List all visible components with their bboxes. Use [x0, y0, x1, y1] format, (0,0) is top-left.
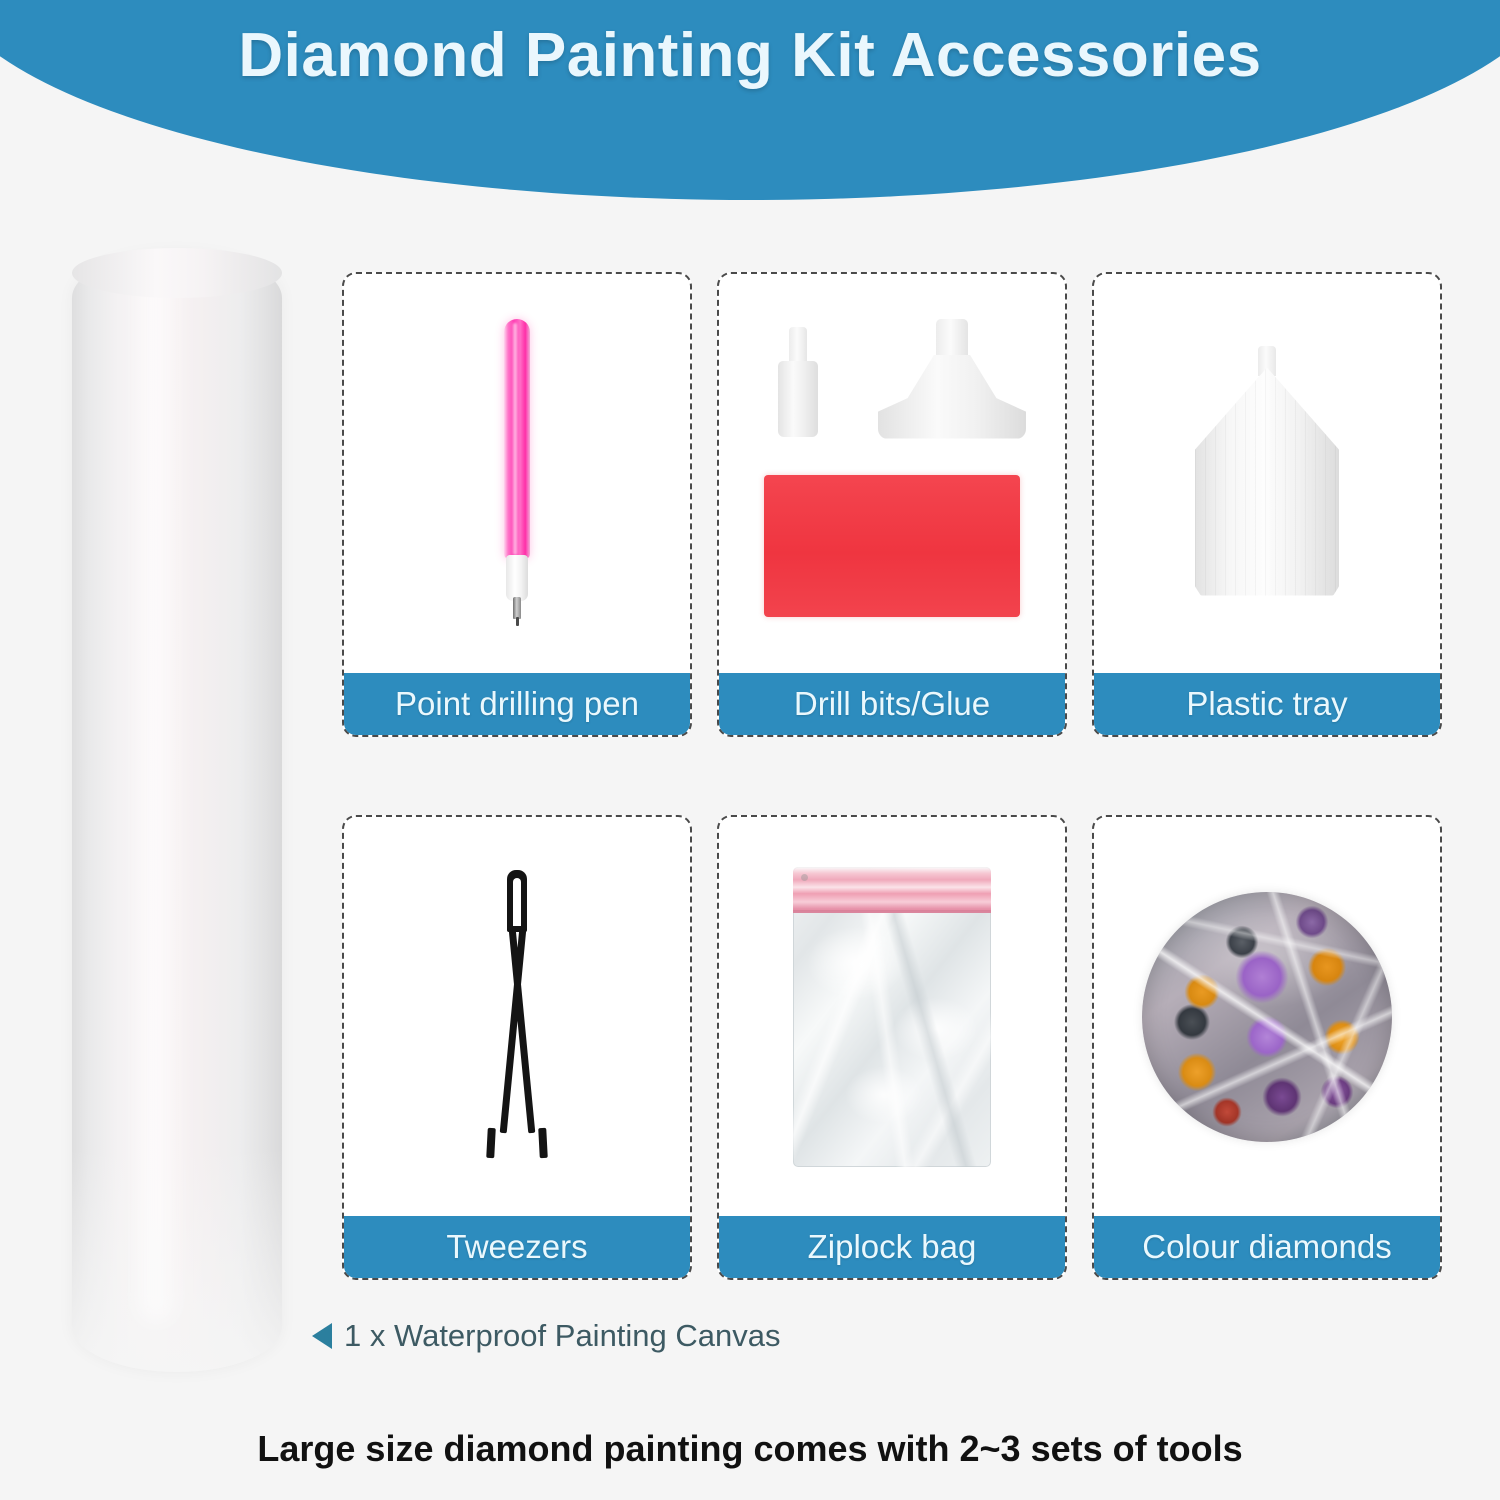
drill-bit-neck — [789, 327, 807, 365]
tweezer-tip-left — [486, 1127, 496, 1157]
multi-placer-head — [878, 355, 1026, 439]
page-title: Diamond Painting Kit Accessories — [0, 20, 1500, 91]
footer-caption: Large size diamond painting comes with 2… — [0, 1428, 1500, 1470]
pen-ferrule — [506, 555, 528, 601]
accessory-card-plastic-tray[interactable]: Plastic tray — [1092, 272, 1442, 737]
drill-pen-icon — [500, 319, 534, 619]
card-label-tweezers: Tweezers — [344, 1216, 690, 1278]
card-media — [344, 817, 690, 1216]
bag-zip-strip — [793, 867, 991, 913]
accessory-card-drill-bits-glue[interactable]: Drill bits/Glue — [717, 272, 1067, 737]
single-drill-bit-icon — [778, 327, 818, 437]
card-label-ziplock-bag: Ziplock bag — [719, 1216, 1065, 1278]
canvas-callout-label: 1 x Waterproof Painting Canvas — [344, 1318, 781, 1354]
card-media — [719, 274, 1065, 673]
pen-barrel — [504, 319, 530, 559]
accessory-card-tweezers[interactable]: Tweezers — [342, 815, 692, 1280]
glue-clay-square-icon — [764, 475, 1020, 617]
drill-bit-body — [778, 361, 818, 437]
tweezer-tip-right — [538, 1127, 548, 1157]
canvas-roll-highlight — [130, 262, 184, 1322]
left-triangle-icon — [312, 1323, 332, 1349]
header-banner: Diamond Painting Kit Accessories — [0, 0, 1500, 200]
multi-placer-drill-bit-icon — [878, 319, 1026, 439]
accessory-card-ziplock-bag[interactable]: Ziplock bag — [717, 815, 1067, 1280]
multi-placer-neck — [936, 319, 968, 361]
card-label-point-drilling-pen: Point drilling pen — [344, 673, 690, 735]
bag-crinkles — [793, 913, 991, 1167]
canvas-callout: 1 x Waterproof Painting Canvas — [312, 1318, 781, 1354]
card-label-drill-bits-glue: Drill bits/Glue — [719, 673, 1065, 735]
drill-bits-and-glue-icon — [742, 309, 1042, 639]
accessory-card-point-drilling-pen[interactable]: Point drilling pen — [342, 272, 692, 737]
card-media — [344, 274, 690, 673]
card-media — [719, 817, 1065, 1216]
pen-tip — [513, 597, 521, 619]
tweezer-head-slot — [513, 878, 521, 926]
plastic-tray-icon — [1195, 346, 1339, 596]
ziplock-bag-icon — [793, 867, 991, 1167]
canvas-roll-top-edge — [72, 248, 282, 298]
card-label-colour-diamonds: Colour diamonds — [1094, 1216, 1440, 1278]
card-media — [1094, 817, 1440, 1216]
tweezers-icon — [477, 870, 557, 1160]
canvas-roll — [72, 252, 282, 1372]
card-media — [1094, 274, 1440, 673]
bag-vent-hole — [801, 874, 808, 881]
card-label-plastic-tray: Plastic tray — [1094, 673, 1440, 735]
tray-body — [1195, 368, 1339, 596]
accessory-card-colour-diamonds[interactable]: Colour diamonds — [1092, 815, 1442, 1280]
accessories-grid: Point drilling pen Drill bits/Glue — [342, 272, 1442, 1282]
colour-diamonds-icon — [1142, 892, 1392, 1142]
